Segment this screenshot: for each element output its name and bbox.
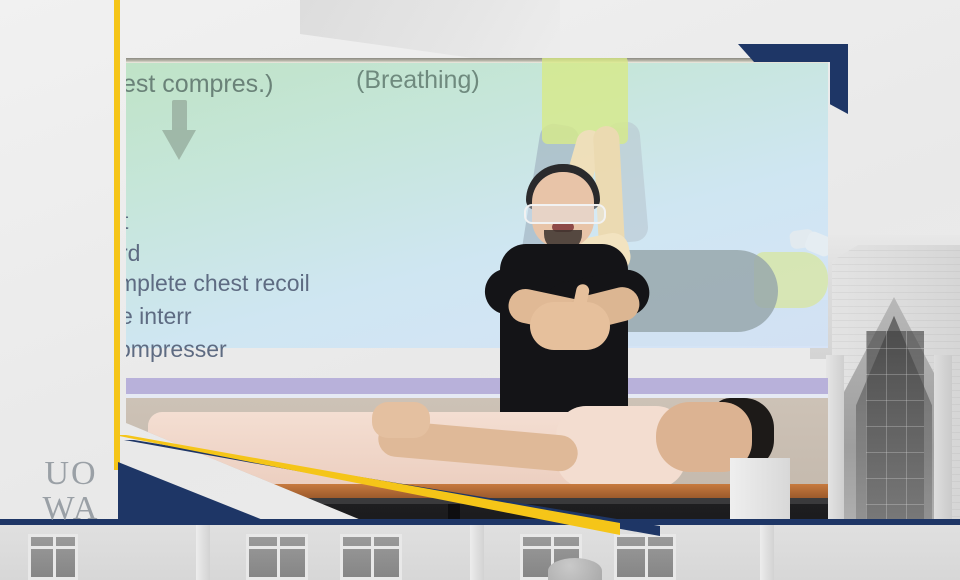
slide-heading-right: (Breathing) <box>356 66 480 95</box>
corner-bracket-side <box>830 44 848 114</box>
slide-bullet: ompresser <box>126 336 227 363</box>
wall-pier <box>196 524 210 580</box>
arrow-head <box>162 130 196 160</box>
instructor-demonstrating-hand-position <box>478 126 658 426</box>
cpr-training-photo: est compres.) (Breathing) t rd mplete ch… <box>126 58 828 522</box>
slide-bullet: rd <box>126 240 140 267</box>
wall-pier <box>760 524 774 580</box>
building-window <box>614 534 676 580</box>
building-window <box>246 534 308 580</box>
uowa-logo: UO WA <box>28 452 114 530</box>
shrub <box>548 558 602 580</box>
instructor-clasped-hands <box>530 302 610 350</box>
slide-bullet: mplete chest recoil <box>126 270 310 297</box>
building-glass-window <box>866 331 924 531</box>
navy-corner-bracket <box>738 44 848 114</box>
logo-line-1: UO <box>44 457 97 490</box>
slide-bullet: e interr <box>126 303 192 330</box>
volunteer-hands <box>372 402 430 438</box>
lower-building-wall <box>0 524 960 580</box>
arrow-shaft <box>172 100 187 134</box>
slide-heading-left: est compres.) <box>126 70 273 99</box>
building-window <box>340 534 402 580</box>
wall-pier <box>470 524 484 580</box>
slide-bullet: t <box>126 208 128 235</box>
safety-glasses-icon <box>524 204 606 224</box>
down-arrow-icon <box>162 100 196 162</box>
room-pillar <box>730 458 790 522</box>
yellow-vertical-accent <box>114 0 120 470</box>
slide-text-layer: est compres.) (Breathing) t rd mplete ch… <box>126 58 828 348</box>
building-column-right <box>934 355 952 545</box>
building-window <box>28 534 78 580</box>
poster-canvas: est compres.) (Breathing) t rd mplete ch… <box>0 0 960 580</box>
building-column-left <box>826 355 844 545</box>
logo-line-2: WA <box>43 492 100 525</box>
